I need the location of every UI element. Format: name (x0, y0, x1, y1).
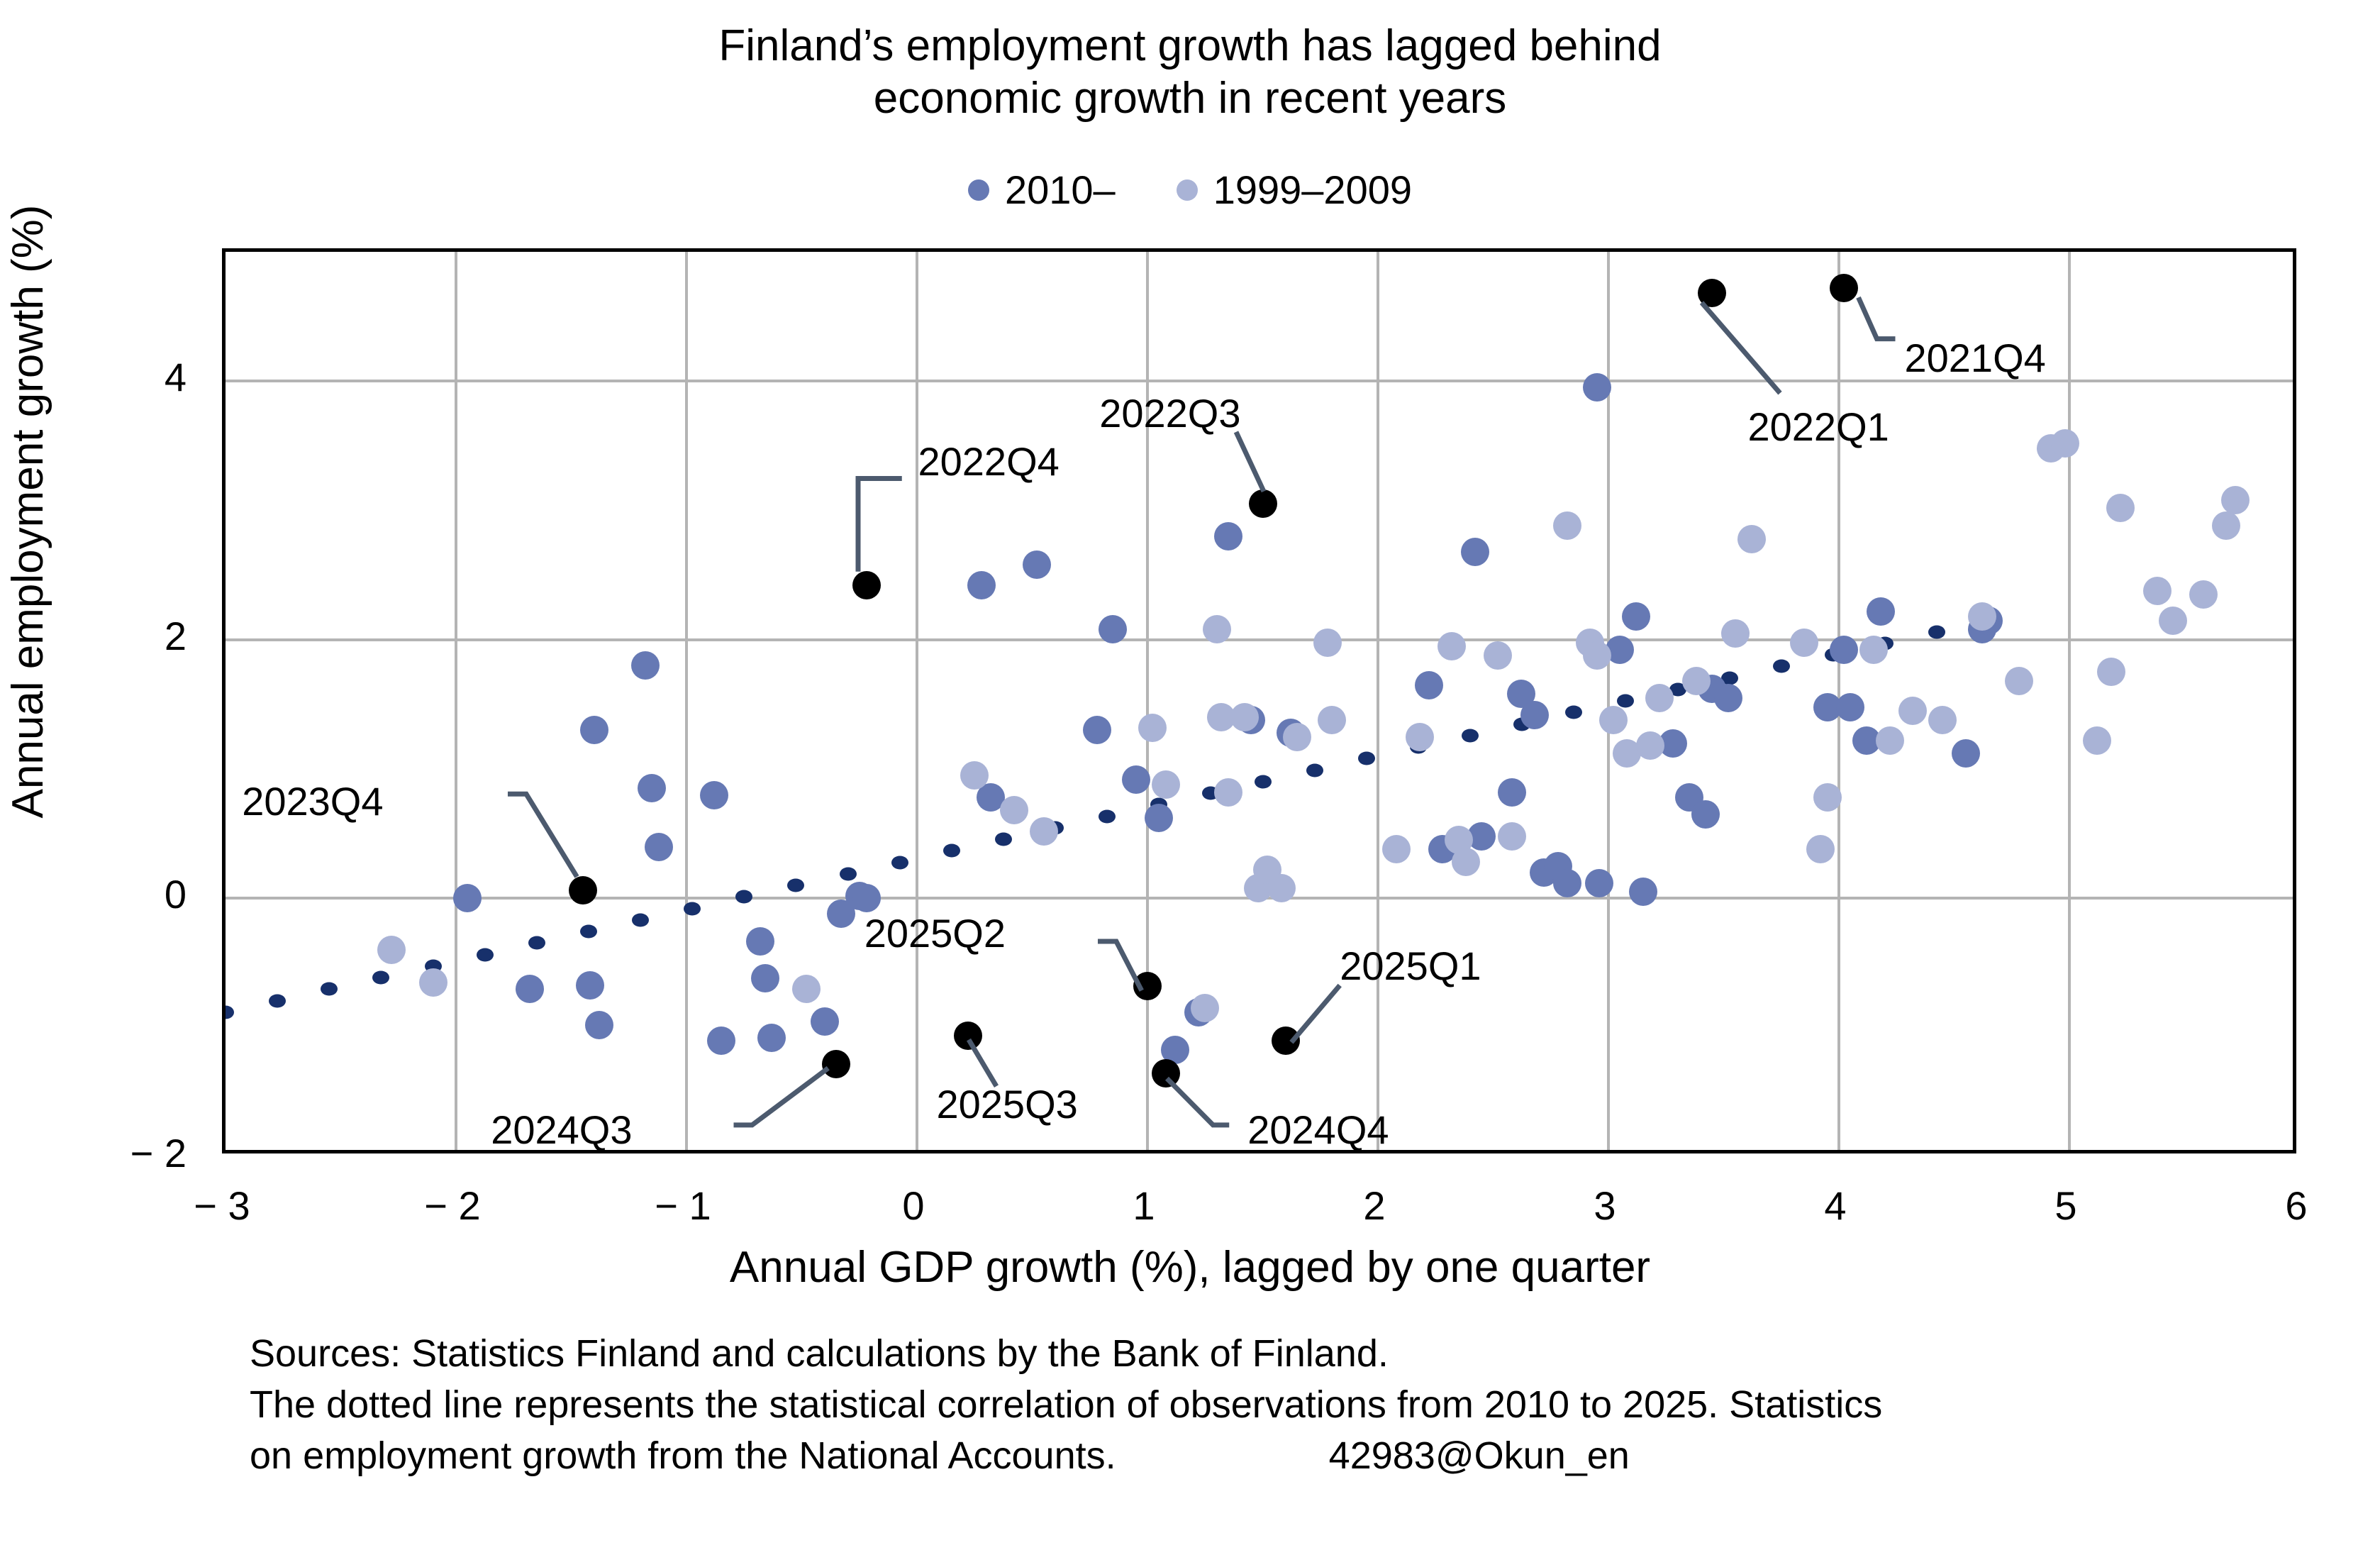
chart-title: Finland’s employment growth has lagged b… (0, 20, 2380, 125)
trendline-dot (1306, 763, 1323, 777)
scatter-point-old[interactable] (1721, 619, 1750, 648)
scatter-point-old[interactable] (1406, 723, 1434, 751)
trendline-dot (735, 890, 752, 904)
scatter-point-recent[interactable] (1952, 739, 1980, 768)
scatter-point-recent[interactable] (580, 716, 608, 744)
scatter-point-old[interactable] (1152, 770, 1180, 799)
gridline-vertical (685, 252, 688, 1150)
scatter-point-old[interactable] (1191, 994, 1219, 1022)
trendline-dot (840, 867, 857, 880)
scatter-point-recent[interactable] (751, 964, 779, 992)
scatter-point-recent[interactable] (645, 833, 673, 861)
scatter-point-highlight[interactable] (1249, 489, 1277, 518)
x-axis-tick: 0 (843, 1186, 984, 1226)
scatter-point-old[interactable] (1000, 796, 1028, 824)
scatter-point-recent[interactable] (1083, 716, 1111, 744)
scatter-point-old[interactable] (1806, 835, 1835, 863)
x-axis-tick: 2 (1303, 1186, 1445, 1226)
scatter-point-old[interactable] (1583, 641, 1611, 670)
scatter-point-old[interactable] (1968, 602, 1996, 631)
scatter-point-highlight[interactable] (1133, 972, 1162, 1000)
plot-area (222, 248, 2296, 1153)
gridline-vertical (1146, 252, 1149, 1150)
scatter-point-old[interactable] (1876, 726, 1904, 755)
annotation-label-2024q4: 2024Q4 (1247, 1110, 1389, 1150)
scatter-point-old[interactable] (1484, 641, 1512, 670)
scatter-point-recent[interactable] (1836, 693, 1864, 721)
scatter-point-old[interactable] (960, 761, 989, 790)
scatter-point-old[interactable] (1498, 822, 1526, 851)
scatter-point-recent[interactable] (852, 884, 881, 912)
gridline-vertical (916, 252, 918, 1150)
scatter-point-old[interactable] (1553, 511, 1581, 540)
scatter-point-recent[interactable] (707, 1026, 735, 1055)
scatter-point-recent[interactable] (1830, 636, 1858, 664)
scatter-point-old[interactable] (1138, 714, 1167, 742)
scatter-point-old[interactable] (2097, 658, 2125, 686)
scatter-point-old[interactable] (1737, 525, 1766, 553)
scatter-point-highlight[interactable] (1698, 279, 1726, 307)
scatter-point-recent[interactable] (1867, 597, 1895, 626)
x-axis-tick: 1 (1073, 1186, 1215, 1226)
scatter-point-old[interactable] (1599, 706, 1628, 734)
scatter-point-old[interactable] (1636, 731, 1664, 760)
scatter-point-recent[interactable] (1461, 538, 1489, 566)
scatter-point-old[interactable] (1318, 706, 1346, 734)
scatter-point-old[interactable] (2143, 577, 2172, 605)
scatter-point-old[interactable] (2106, 494, 2135, 522)
scatter-point-recent[interactable] (757, 1024, 786, 1052)
annotation-label-2022q3: 2022Q3 (0, 394, 1241, 433)
x-axis-tick: − 2 (382, 1186, 523, 1226)
scatter-point-recent[interactable] (638, 774, 666, 802)
trendline-dot (1565, 706, 1582, 719)
trendline-dot (891, 856, 908, 869)
scatter-point-recent[interactable] (453, 884, 482, 912)
scatter-point-old[interactable] (419, 968, 447, 997)
scatter-point-recent[interactable] (1214, 522, 1242, 550)
scatter-point-old[interactable] (1382, 835, 1411, 863)
scatter-point-old[interactable] (1645, 684, 1674, 712)
notes-line-2: The dotted line represents the statistic… (250, 1379, 2342, 1430)
annotation-label-2022q1: 2022Q1 (1748, 407, 1889, 447)
scatter-point-old[interactable] (1859, 636, 1888, 664)
legend-item-recent[interactable]: 2010– (968, 170, 1116, 210)
gridline-vertical (455, 252, 457, 1150)
trendline-dot (787, 879, 804, 892)
annotation-label-2025q2: 2025Q2 (0, 914, 1006, 953)
trendline-dot (943, 844, 960, 858)
scatter-point-highlight[interactable] (1272, 1026, 1300, 1055)
legend-label-old: 1999–2009 (1213, 170, 1412, 210)
trendline-dot (321, 983, 338, 996)
trendline-dot (1099, 809, 1116, 823)
scatter-point-old[interactable] (1030, 817, 1058, 846)
annotation-label-2023q4: 2023Q4 (0, 782, 384, 821)
scatter-point-old[interactable] (1313, 629, 1342, 657)
scatter-point-recent[interactable] (1145, 804, 1173, 832)
scatter-point-recent[interactable] (1520, 701, 1549, 729)
scatter-point-old[interactable] (2221, 486, 2250, 514)
gridline-vertical (1377, 252, 1379, 1150)
scatter-point-old[interactable] (1203, 615, 1231, 643)
scatter-point-recent[interactable] (967, 571, 996, 599)
trendline-dot (1773, 660, 1790, 673)
scatter-point-old[interactable] (1813, 783, 1842, 812)
scatter-point-recent[interactable] (576, 971, 604, 1000)
scatter-point-old[interactable] (792, 975, 821, 1003)
trendline-dot (1358, 752, 1375, 765)
x-axis-tick: 6 (2225, 1186, 2367, 1226)
legend-swatch-old (1177, 179, 1198, 201)
scatter-point-old[interactable] (2189, 580, 2218, 609)
scatter-point-recent[interactable] (1498, 778, 1526, 807)
scatter-point-recent[interactable] (631, 651, 660, 680)
scatter-point-old[interactable] (1214, 778, 1242, 807)
scatter-point-recent[interactable] (1629, 878, 1657, 906)
scatter-point-old[interactable] (2212, 511, 2240, 540)
y-axis-tick: 0 (94, 875, 187, 914)
scatter-point-old[interactable] (2159, 607, 2187, 635)
scatter-point-highlight[interactable] (1152, 1059, 1180, 1088)
scatter-point-recent[interactable] (585, 1011, 613, 1039)
notes-line-1: Sources: Statistics Finland and calculat… (250, 1328, 2342, 1379)
scatter-point-highlight[interactable] (822, 1050, 850, 1078)
x-axis-label: Annual GDP growth (%), lagged by one qua… (0, 1246, 2380, 1290)
scatter-point-recent[interactable] (1553, 869, 1581, 897)
annotation-label-2025q1: 2025Q1 (1340, 946, 1481, 986)
scatter-point-recent[interactable] (1583, 373, 1611, 402)
x-axis-tick: 4 (1764, 1186, 1906, 1226)
annotation-label-2024q3: 2024Q3 (0, 1110, 633, 1150)
chart-root: Finland’s employment growth has lagged b… (0, 0, 2380, 1555)
scatter-point-highlight[interactable] (852, 571, 881, 599)
trendline-dot (1928, 625, 1945, 638)
trendline-dot (269, 994, 286, 1007)
scatter-point-recent[interactable] (1585, 869, 1613, 897)
gridline-vertical (2068, 252, 2071, 1150)
notes-line-3: on employment growth from the National A… (250, 1430, 2342, 1481)
scatter-point-old[interactable] (1682, 667, 1711, 695)
legend-swatch-recent (968, 179, 989, 201)
scatter-point-recent[interactable] (1714, 684, 1742, 712)
annotation-label-2021q4: 2021Q4 (1905, 338, 2046, 378)
scatter-point-old[interactable] (2051, 429, 2079, 458)
scatter-point-highlight[interactable] (1830, 274, 1858, 302)
legend-item-old[interactable]: 1999–2009 (1177, 170, 1412, 210)
legend-label-recent: 2010– (1005, 170, 1116, 210)
y-axis-tick: 2 (94, 616, 187, 656)
scatter-point-recent[interactable] (1691, 800, 1720, 829)
scatter-point-highlight[interactable] (569, 876, 597, 904)
x-axis-tick: − 1 (612, 1186, 754, 1226)
scatter-point-old[interactable] (1790, 629, 1818, 657)
scatter-point-old[interactable] (1230, 703, 1259, 731)
scatter-point-old[interactable] (1283, 723, 1311, 751)
scatter-point-old[interactable] (2005, 667, 2033, 695)
scatter-point-old[interactable] (1438, 632, 1466, 660)
scatter-point-old[interactable] (1452, 848, 1480, 876)
x-axis-tick: 5 (1995, 1186, 2137, 1226)
chart-legend: 2010– 1999–2009 (0, 170, 2380, 210)
scatter-point-recent[interactable] (1415, 671, 1443, 699)
trendline-dot (995, 833, 1012, 846)
trendline-dot (1617, 695, 1634, 708)
scatter-point-old[interactable] (1898, 697, 1927, 725)
scatter-point-old[interactable] (1928, 706, 1957, 734)
scatter-point-old[interactable] (1267, 874, 1296, 902)
scatter-point-recent[interactable] (1622, 602, 1650, 631)
chart-notes: Sources: Statistics Finland and calculat… (250, 1328, 2342, 1481)
scatter-point-recent[interactable] (1099, 615, 1127, 643)
scatter-point-recent[interactable] (1122, 765, 1150, 794)
trendline-dot (1462, 729, 1479, 742)
x-axis-tick: 3 (1534, 1186, 1676, 1226)
trendline-dot (1255, 775, 1272, 788)
scatter-point-old[interactable] (2083, 726, 2111, 755)
trendline-dot (226, 1005, 234, 1019)
scatter-point-highlight[interactable] (954, 1022, 982, 1050)
scatter-point-recent[interactable] (516, 975, 544, 1003)
annotation-label-2025q3: 2025Q3 (937, 1085, 1078, 1124)
x-axis-tick: − 3 (151, 1186, 293, 1226)
plot-canvas (226, 252, 2293, 1150)
trendline-dot (372, 971, 389, 985)
scatter-point-recent[interactable] (811, 1007, 839, 1036)
annotation-label-2022q4: 2022Q4 (918, 442, 1060, 482)
y-axis-tick: 4 (94, 358, 187, 397)
scatter-point-recent[interactable] (1023, 550, 1051, 579)
scatter-point-recent[interactable] (700, 781, 728, 809)
